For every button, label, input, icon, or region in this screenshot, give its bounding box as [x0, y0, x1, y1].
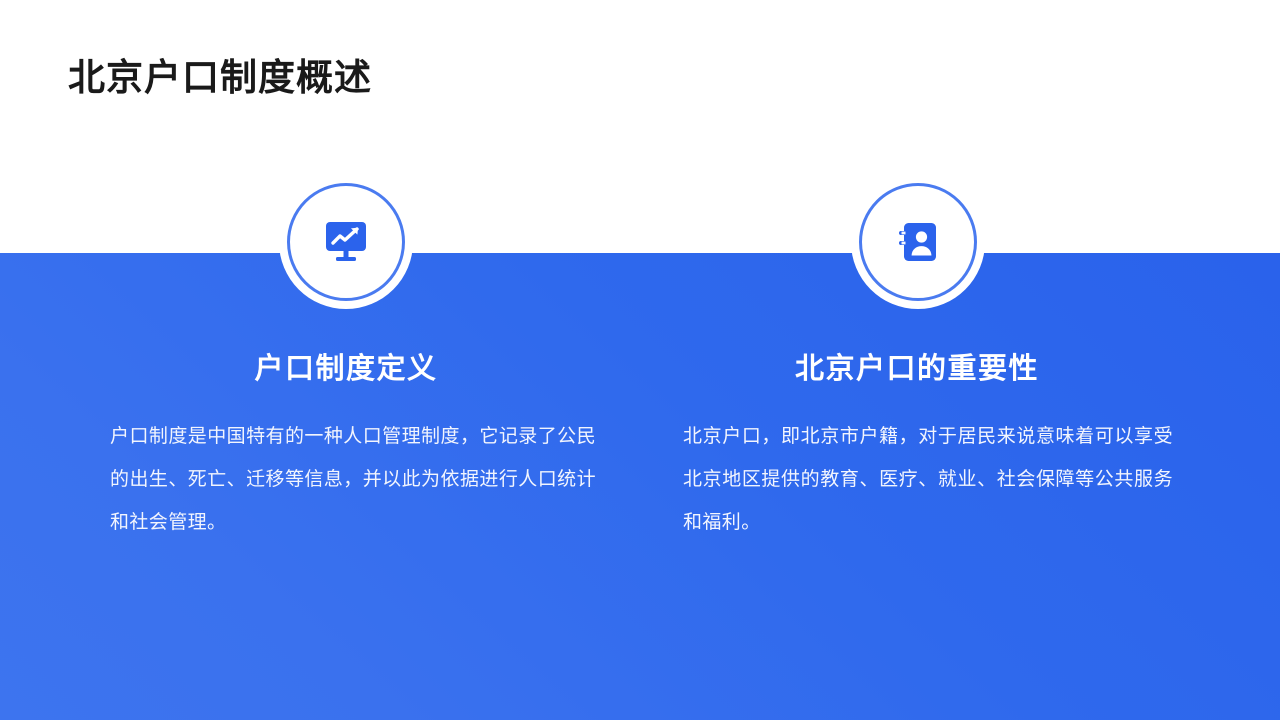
- card-body-importance: 北京户口，即北京市户籍，对于居民来说意味着可以享受北京地区提供的教育、医疗、就业…: [683, 415, 1173, 544]
- icon-badge-importance: [851, 175, 985, 309]
- card-heading-importance: 北京户口的重要性: [667, 352, 1167, 387]
- address-book-person-icon: [851, 175, 985, 309]
- card-heading-definition: 户口制度定义: [96, 352, 596, 387]
- icon-badge-definition: [279, 175, 413, 309]
- monitor-chart-icon: [279, 175, 413, 309]
- card-body-definition: 户口制度是中国特有的一种人口管理制度，它记录了公民的出生、死亡、迁移等信息，并以…: [110, 415, 596, 544]
- content-columns: 户口制度定义 户口制度是中国特有的一种人口管理制度，它记录了公民的出生、死亡、迁…: [0, 0, 1280, 720]
- slide-root: 北京户口制度概述 户口制度定义 户口制度是中国: [0, 0, 1280, 720]
